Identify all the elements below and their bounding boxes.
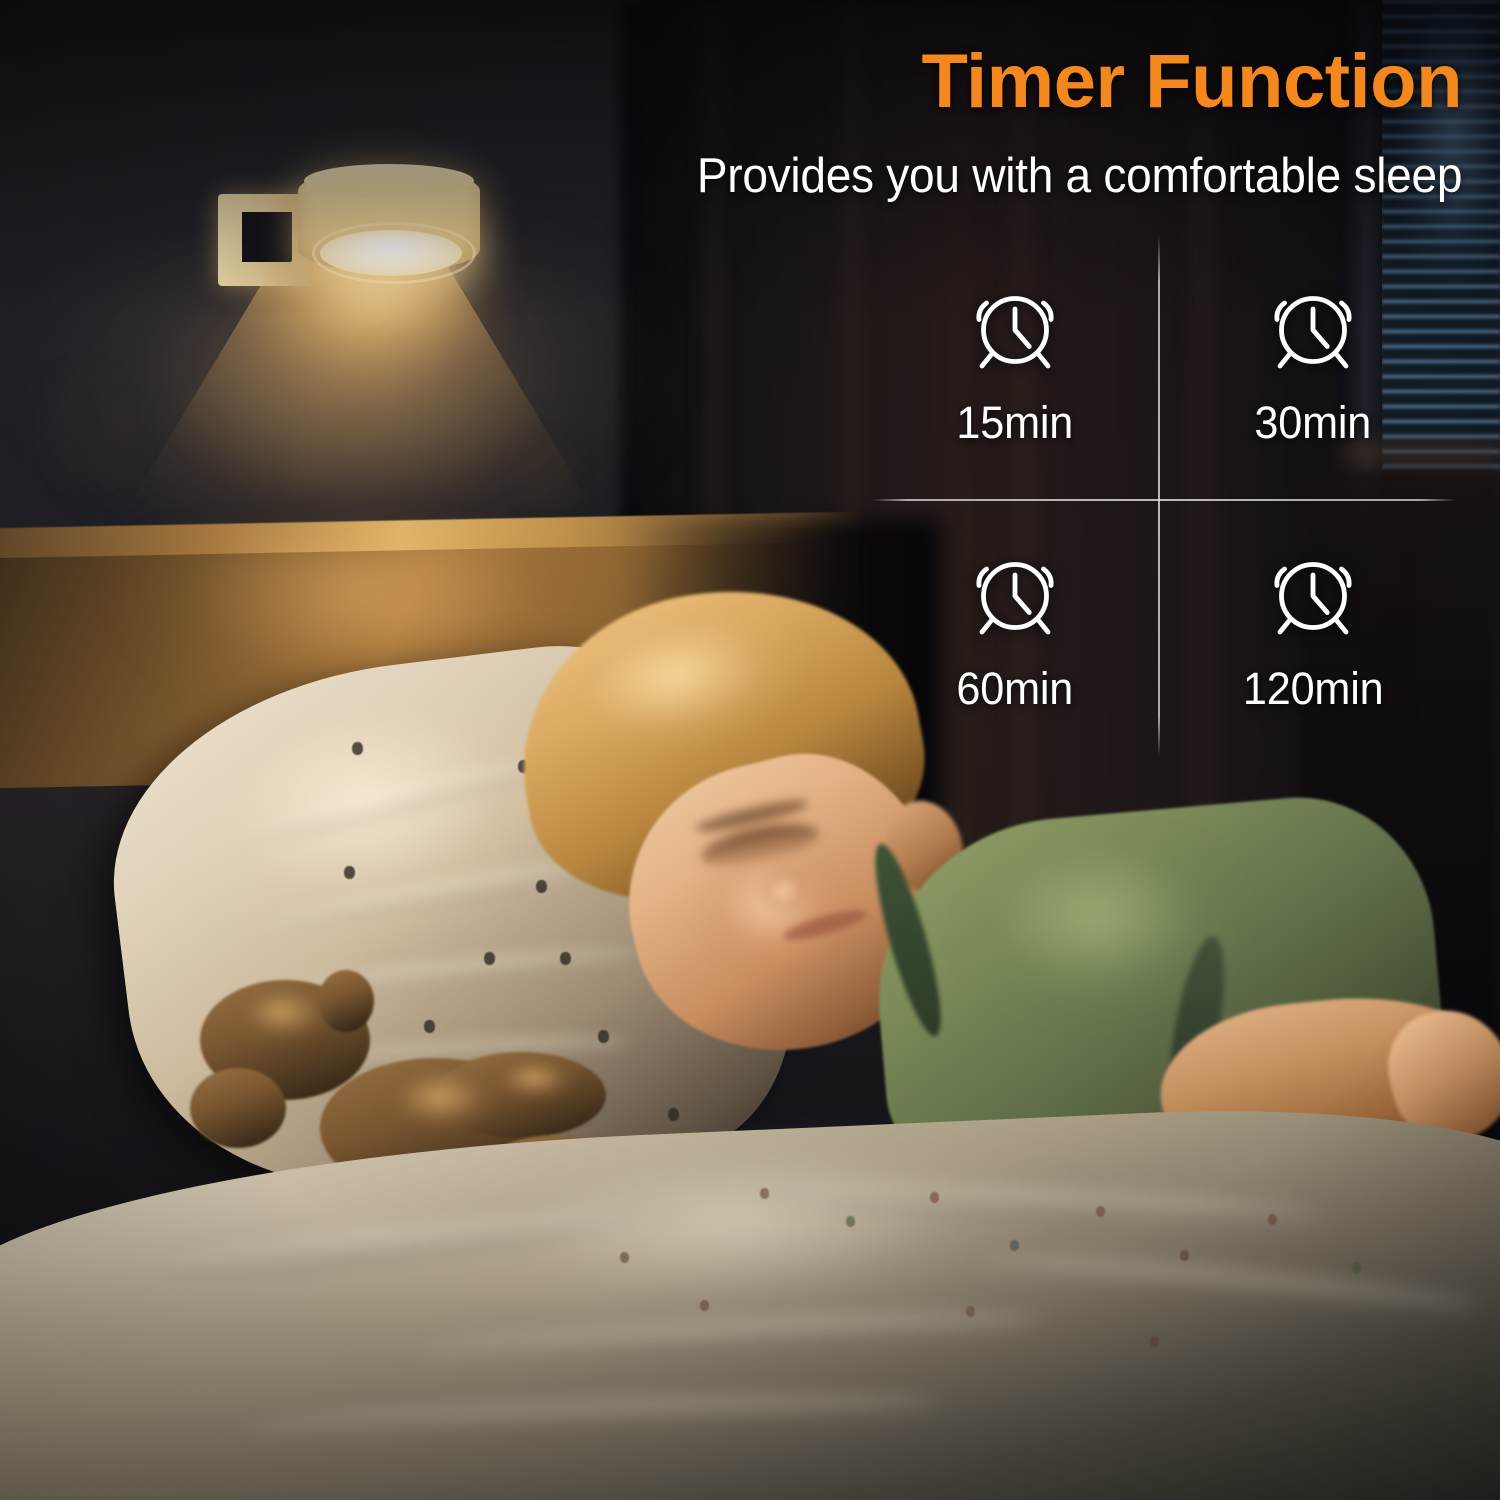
grid-vertical-divider [1158,235,1160,757]
timer-option-label: 120min [1243,663,1384,715]
timer-option-60min[interactable]: 60min [872,501,1158,759]
timer-option-120min[interactable]: 120min [1170,501,1456,759]
timer-option-label: 15min [957,397,1074,449]
timer-option-label: 60min [957,663,1074,715]
alarm-clock-icon [1265,279,1361,375]
marketing-overlay: Timer Function Provides you with a comfo… [0,0,1500,1500]
alarm-clock-icon [1265,545,1361,641]
timer-option-label: 30min [1255,397,1372,449]
timer-option-30min[interactable]: 30min [1170,235,1456,493]
timer-option-15min[interactable]: 15min [872,235,1158,493]
alarm-clock-icon [967,545,1063,641]
alarm-clock-icon [967,279,1063,375]
page-subtitle: Provides you with a comfortable sleep [697,148,1462,204]
page-title: Timer Function [921,38,1462,125]
product-marketing-image: Timer Function Provides you with a comfo… [0,0,1500,1500]
timer-options-grid: 15min 30min [872,235,1456,757]
